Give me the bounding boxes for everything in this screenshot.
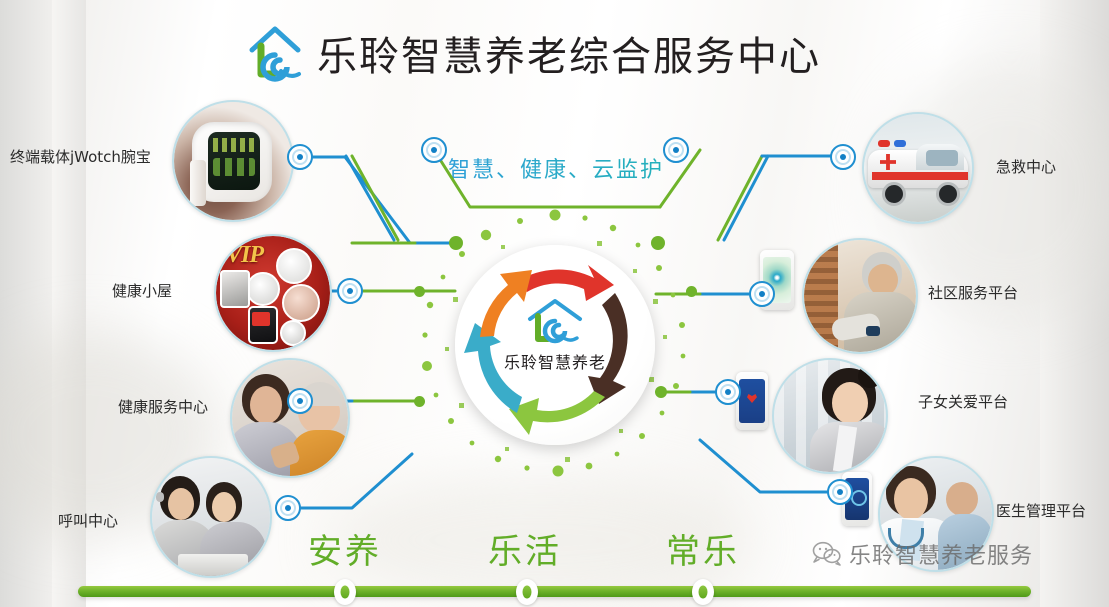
ambulance-photo[interactable] [862, 112, 974, 224]
label-terminal: 终端载体jWotch腕宝 [10, 146, 151, 167]
node-emergency[interactable] [830, 144, 856, 170]
call-center-agents-photo[interactable] [150, 456, 272, 578]
node-doctor-platform[interactable] [827, 479, 853, 505]
children-care-app-phone-icon [736, 372, 768, 430]
caregiver-elderly-photo[interactable] [230, 358, 350, 478]
elderly-man-phone-photo[interactable] [802, 238, 918, 354]
label-children-care: 子女关爱平台 [918, 391, 1008, 412]
infographic-canvas: 乐聆智慧养老综合服务中心 智慧、健康、云监护 [0, 0, 1109, 607]
smartwatch-photo[interactable] [172, 100, 294, 222]
bottom-bar-node-2[interactable] [516, 579, 538, 605]
label-health-service: 健康服务中心 [118, 396, 208, 417]
label-call-center: 呼叫中心 [58, 510, 118, 531]
label-emergency: 急救中心 [996, 156, 1056, 177]
node-terminal[interactable] [287, 144, 313, 170]
node-health-service[interactable] [287, 388, 313, 414]
node-tagline-right[interactable] [663, 137, 689, 163]
ring-connector-dot-right [686, 286, 697, 297]
node-community[interactable] [749, 281, 775, 307]
ring-connector-dot-bottom-left [414, 396, 425, 407]
node-tagline-left[interactable] [421, 137, 447, 163]
node-children-care[interactable] [715, 379, 741, 405]
bottom-progress-bar [78, 586, 1031, 597]
center-brand-name: 乐聆智慧养老 [455, 349, 655, 373]
ring-connector-dot-top-right [651, 236, 665, 250]
node-health-hut[interactable] [337, 278, 363, 304]
label-health-hut: 健康小屋 [112, 280, 172, 301]
woman-phone-photo[interactable] [772, 358, 888, 474]
ring-connector-dot-left [414, 286, 425, 297]
segment-top [518, 265, 614, 301]
watermark-text: 乐聆智慧养老服务 [849, 538, 1033, 570]
ring-connector-dot-bottom-right [655, 386, 667, 398]
segment-bottom-right [509, 391, 605, 435]
vip-devices-photo[interactable]: VIP [214, 234, 332, 352]
bottom-word-changle: 常乐 [666, 524, 740, 573]
center-hub: 乐聆智慧养老 [435, 225, 675, 465]
watermark: 乐聆智慧养老服务 [812, 538, 1033, 570]
bottom-word-anyang: 安养 [308, 524, 382, 573]
label-community: 社区服务平台 [928, 282, 1018, 303]
bottom-bar-node-1[interactable] [334, 579, 356, 605]
bottom-word-lehuo: 乐活 [488, 524, 562, 573]
label-doctor-platform: 医生管理平台 [996, 500, 1086, 521]
node-call-center[interactable] [275, 495, 301, 521]
process-wheel: 乐聆智慧养老 [455, 245, 655, 445]
ring-connector-dot-top-left [449, 236, 463, 250]
wechat-icon [812, 541, 842, 567]
bottom-bar-node-3[interactable] [692, 579, 714, 605]
center-brand: 乐聆智慧养老 [455, 297, 655, 373]
house-wave-logo-icon [520, 297, 590, 345]
